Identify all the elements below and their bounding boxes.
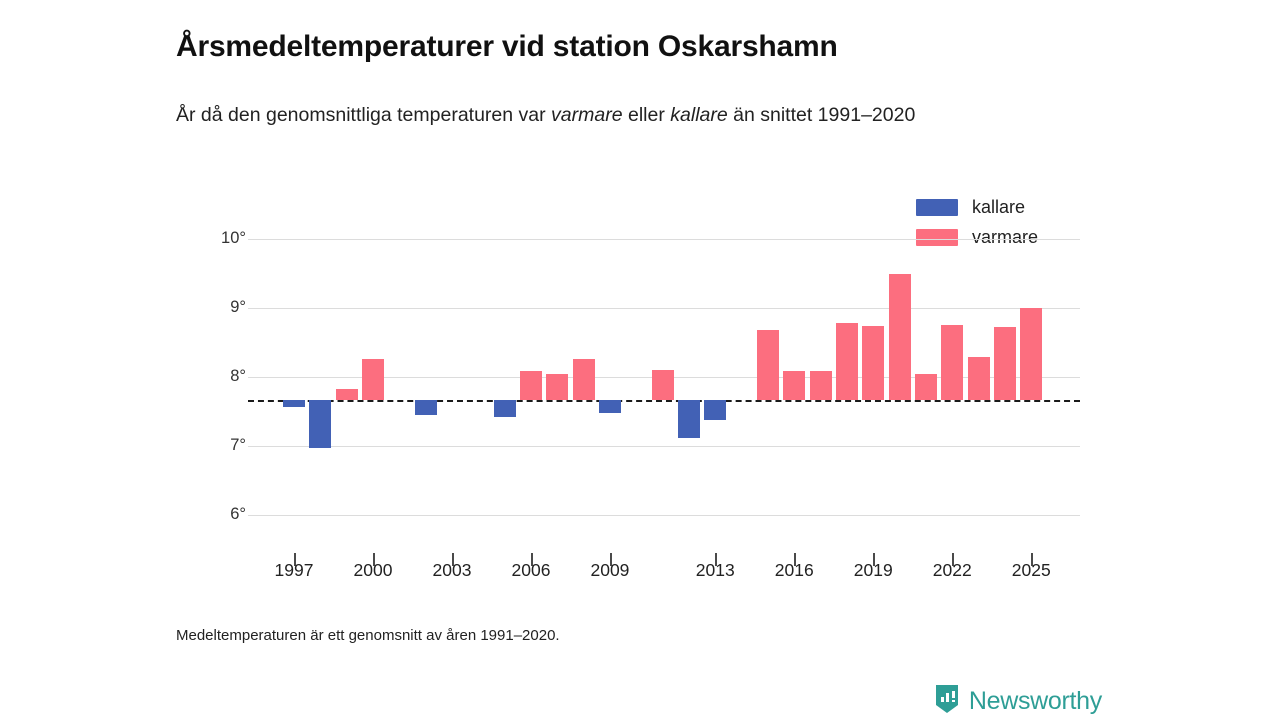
bar-2002[interactable] bbox=[415, 400, 437, 414]
bar-2020[interactable] bbox=[889, 274, 911, 400]
legend-swatch-kallare bbox=[916, 199, 958, 216]
x-axis-label-2013: 2013 bbox=[675, 560, 755, 581]
bar-1998[interactable] bbox=[309, 400, 331, 448]
bar-2018[interactable] bbox=[836, 323, 858, 400]
y-axis-label-6: 6° bbox=[186, 505, 246, 524]
bar-2017[interactable] bbox=[810, 371, 832, 401]
bar-2022[interactable] bbox=[941, 325, 963, 400]
brand-name: Newsworthy bbox=[969, 687, 1102, 716]
bar-2006[interactable] bbox=[520, 371, 542, 400]
bar-2023[interactable] bbox=[968, 357, 990, 400]
y-axis-label-8: 8° bbox=[186, 367, 246, 386]
bar-2008[interactable] bbox=[573, 359, 595, 400]
brand-logo[interactable]: Newsworthy bbox=[934, 684, 1102, 719]
legend-label-kallare: kallare bbox=[972, 197, 1025, 218]
y-axis-label-10: 10° bbox=[186, 229, 246, 248]
subtitle-text-2: eller bbox=[623, 104, 671, 126]
bar-2013[interactable] bbox=[704, 400, 726, 419]
x-axis-label-2006: 2006 bbox=[491, 560, 571, 581]
bar-2009[interactable] bbox=[599, 400, 621, 412]
newsworthy-bars-icon bbox=[934, 684, 960, 719]
y-axis-label-7: 7° bbox=[186, 436, 246, 455]
bar-2011[interactable] bbox=[652, 370, 674, 400]
x-axis-label-2016: 2016 bbox=[754, 560, 834, 581]
bar-2024[interactable] bbox=[994, 327, 1016, 401]
bar-2000[interactable] bbox=[362, 359, 384, 400]
chart-page: Årsmedeltemperaturer vid station Oskarsh… bbox=[0, 0, 1280, 720]
x-axis-label-1997: 1997 bbox=[254, 560, 334, 581]
x-axis-label-2009: 2009 bbox=[570, 560, 650, 581]
bar-1997[interactable] bbox=[283, 400, 305, 407]
x-axis-label-2003: 2003 bbox=[412, 560, 492, 581]
bar-2012[interactable] bbox=[678, 400, 700, 437]
x-axis-label-2025: 2025 bbox=[991, 560, 1071, 581]
bar-2016[interactable] bbox=[783, 371, 805, 401]
bar-2025[interactable] bbox=[1020, 308, 1042, 400]
bar-2021[interactable] bbox=[915, 374, 937, 400]
x-axis-label-2019: 2019 bbox=[833, 560, 913, 581]
y-axis: 10°9°8°7°6° bbox=[186, 239, 246, 515]
bar-2007[interactable] bbox=[546, 374, 568, 400]
x-axis-label-2022: 2022 bbox=[912, 560, 992, 581]
x-axis-label-2000: 2000 bbox=[333, 560, 413, 581]
bar-2019[interactable] bbox=[862, 326, 884, 401]
subtitle-text-3: än snittet 1991–2020 bbox=[728, 104, 916, 126]
bars-layer bbox=[248, 239, 1080, 515]
y-axis-label-9: 9° bbox=[186, 298, 246, 317]
subtitle-emphasis-kallare: kallare bbox=[670, 104, 727, 126]
bar-2005[interactable] bbox=[494, 400, 516, 417]
subtitle-text-1: År då den genomsnittliga temperaturen va… bbox=[176, 104, 551, 126]
bar-1999[interactable] bbox=[336, 389, 358, 400]
legend-item-kallare[interactable]: kallare bbox=[916, 193, 1096, 221]
bar-2015[interactable] bbox=[757, 330, 779, 400]
chart-footnote: Medeltemperaturen är ett genomsnitt av å… bbox=[176, 627, 560, 644]
subtitle-emphasis-varmare: varmare bbox=[551, 104, 623, 126]
page-title: Årsmedeltemperaturer vid station Oskarsh… bbox=[176, 30, 1176, 65]
chart-subtitle: År då den genomsnittliga temperaturen va… bbox=[176, 102, 1046, 130]
